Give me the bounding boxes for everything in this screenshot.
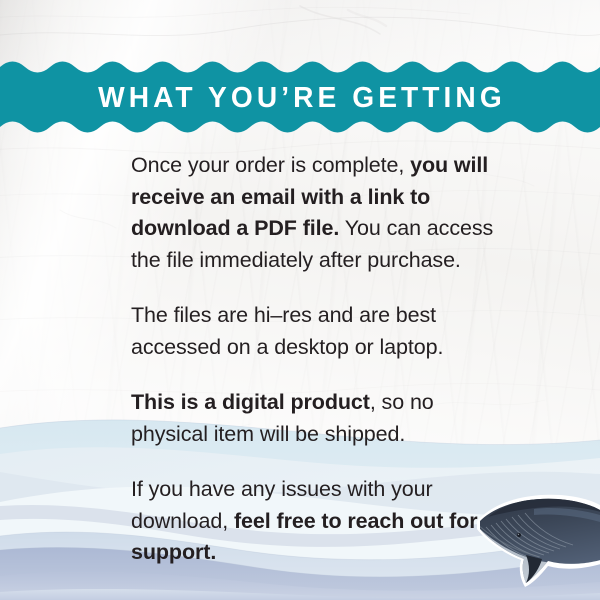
promo-graphic: WHAT YOU’RE GETTING Once your order is c…	[0, 0, 600, 600]
text-run: The files are hi–res and are best access…	[131, 303, 443, 359]
paragraph-support: If you have any issues with your downloa…	[131, 474, 503, 569]
text-run-bold: This is a digital product	[131, 390, 370, 414]
header-banner: WHAT YOU’RE GETTING	[0, 58, 600, 138]
blue-whale-icon	[474, 487, 600, 587]
whale-eye	[517, 533, 521, 537]
paragraph-hi-res: The files are hi–res and are best access…	[131, 300, 503, 363]
text-run: Once your order is complete,	[131, 153, 410, 177]
page-title: WHAT YOU’RE GETTING	[9, 58, 591, 138]
paragraph-order-complete: Once your order is complete, you will re…	[131, 150, 503, 276]
body-copy: Once your order is complete, you will re…	[131, 150, 503, 569]
paragraph-digital-product: This is a digital product, so no physica…	[131, 387, 503, 450]
